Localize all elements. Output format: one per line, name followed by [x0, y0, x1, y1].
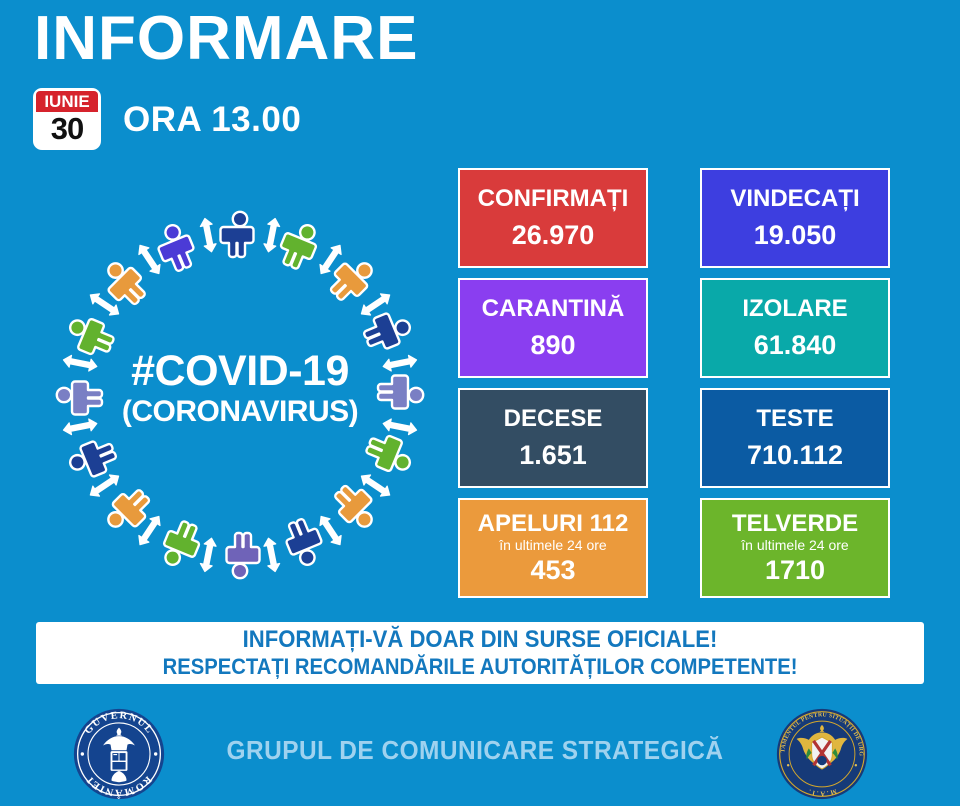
person-icon: [378, 376, 423, 409]
guvernul-romaniei-seal-icon: GUVERNUL ROMÂNIEI: [72, 707, 166, 801]
stat-label: VINDECAȚI: [730, 185, 859, 213]
stat-card-vindecati: VINDECAȚI 19.050: [700, 168, 890, 268]
page-title: INFORMARE: [34, 6, 418, 71]
advisory-banner: INFORMAȚI-VĂ DOAR DIN SURSE OFICIALE! RE…: [36, 622, 924, 684]
stat-card-decese: DECESE 1.651: [458, 388, 648, 488]
stat-card-carantina: CARANTINĂ 890: [458, 278, 648, 378]
covid-circle-illustration: #COVID-19 (CORONAVIRUS): [40, 190, 440, 600]
stat-value: 1710: [765, 554, 825, 586]
stat-value: 26.970: [512, 219, 595, 251]
stat-sublabel: în ultimele 24 ore: [741, 537, 848, 553]
calendar-month-label: IUNIE: [36, 91, 98, 112]
person-icon: [362, 430, 416, 478]
header-time: ORA 13.00: [123, 100, 301, 140]
stat-label: TESTE: [756, 405, 833, 433]
stat-sublabel: în ultimele 24 ore: [499, 537, 606, 553]
stat-value: 19.050: [754, 219, 837, 251]
stat-card-apeluri-112: APELURI 112 în ultimele 24 ore 453: [458, 498, 648, 598]
stat-label: TELVERDE: [732, 510, 858, 538]
stat-value: 890: [530, 329, 575, 361]
stat-value: 710.112: [747, 439, 843, 471]
stat-label: CARANTINĂ: [482, 295, 625, 323]
stats-grid: CONFIRMAȚI 26.970 VINDECAȚI 19.050 CARAN…: [458, 168, 890, 598]
person-icon: [275, 218, 323, 272]
stat-value: 61.840: [754, 329, 837, 361]
stat-label: DECESE: [504, 405, 603, 433]
stat-card-izolare: IZOLARE 61.840: [700, 278, 890, 378]
person-icon: [57, 382, 102, 415]
footer-organisation-label: GRUPUL DE COMUNICARE STRATEGICĂ: [207, 735, 743, 766]
stat-value: 1.651: [519, 439, 587, 471]
people-group: [57, 212, 423, 578]
covid-circle-svg: [40, 190, 440, 600]
stat-card-telverde: TELVERDE în ultimele 24 ore 1710: [700, 498, 890, 598]
advisory-banner-line2: RESPECTAȚI RECOMANDĂRILE AUTORITĂȚILOR C…: [163, 654, 798, 680]
person-icon: [227, 533, 260, 578]
stat-card-confirmati: CONFIRMAȚI 26.970: [458, 168, 648, 268]
calendar-icon: IUNIE 30: [33, 88, 101, 150]
calendar-day-label: 30: [36, 112, 98, 147]
person-icon: [157, 517, 205, 571]
stat-card-teste: TESTE 710.112: [700, 388, 890, 488]
stat-label: IZOLARE: [742, 295, 847, 323]
stat-label: APELURI 112: [478, 510, 629, 538]
stat-value: 453: [530, 554, 575, 586]
stat-label: CONFIRMAȚI: [478, 185, 629, 213]
dsu-mai-seal-icon: DEPARTAMENTUL PENTRU SITUAȚII DE URGENȚĂ…: [775, 707, 869, 801]
advisory-banner-line1: INFORMAȚI-VĂ DOAR DIN SURSE OFICIALE!: [243, 626, 718, 654]
infographic-poster: INFORMARE IUNIE 30 ORA 13.00: [0, 0, 960, 806]
person-icon: [221, 212, 254, 257]
person-icon: [63, 312, 117, 360]
